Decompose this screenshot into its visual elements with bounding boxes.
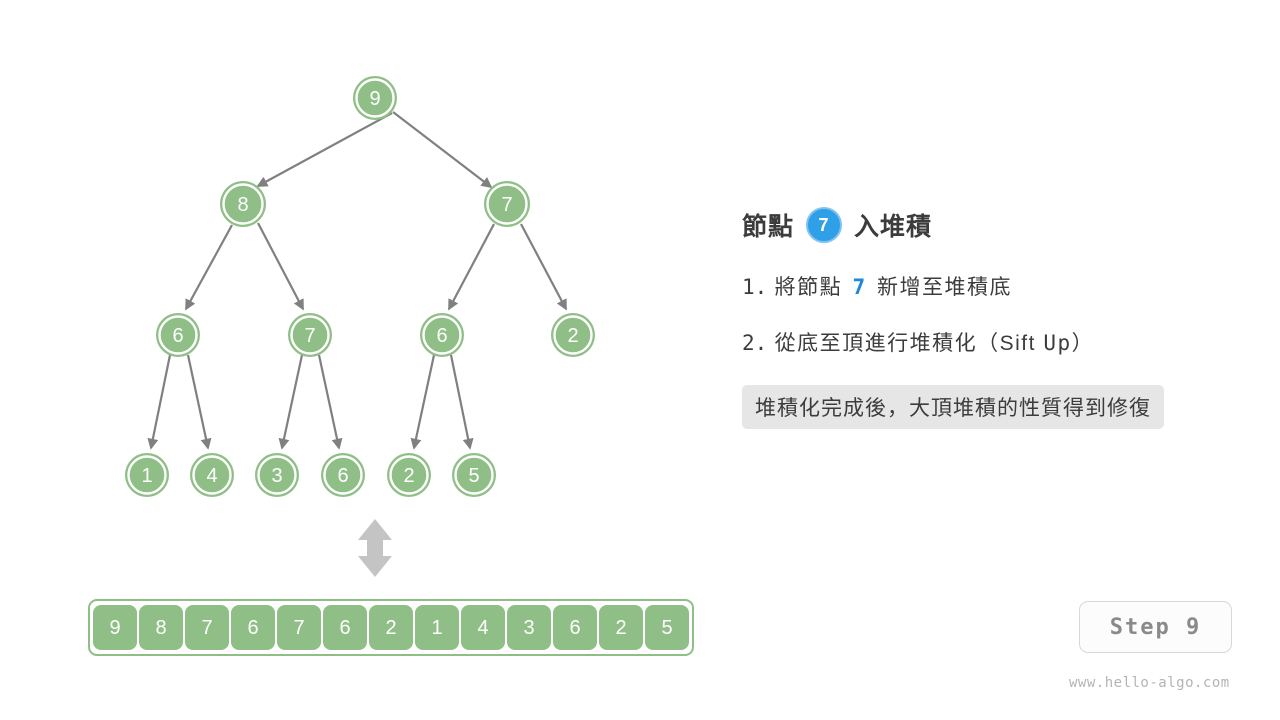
tree-node-label: 6	[172, 325, 183, 347]
array-cell[interactable]: 6	[323, 605, 367, 650]
step-badge: Step 9	[1079, 601, 1232, 653]
tree-edge	[188, 355, 208, 448]
tree-node: 9	[353, 76, 397, 120]
info-title-prefix: 節點	[742, 207, 794, 243]
tree-edge	[521, 224, 566, 309]
array-cell[interactable]: 8	[139, 605, 183, 650]
tree-node: 1	[125, 453, 169, 497]
info-step-2-text-before: 從底至頂進行堆積化（Sift	[775, 332, 1036, 355]
tree-node: 4	[190, 453, 234, 497]
tree-node-label: 6	[337, 465, 348, 487]
array-cell[interactable]: 4	[461, 605, 505, 650]
info-step-1-text-after: 新增至堆積底	[877, 276, 1012, 299]
tree-node: 6	[420, 313, 464, 357]
tree-node-label: 9	[369, 88, 380, 110]
info-title-suffix: 入堆積	[854, 207, 932, 243]
array-cell[interactable]: 2	[369, 605, 413, 650]
array-cell[interactable]: 7	[277, 605, 321, 650]
info-step-1-number: 1.	[742, 275, 767, 299]
tree-node: 2	[551, 313, 595, 357]
info-note: 堆積化完成後，大頂堆積的性質得到修復	[742, 385, 1164, 429]
tree-edge	[451, 355, 470, 448]
array-cell[interactable]: 5	[645, 605, 689, 650]
tree-node-label: 5	[468, 465, 479, 487]
array-cell[interactable]: 9	[93, 605, 137, 650]
tree-node: 7	[484, 181, 530, 227]
heap-array: 9 8 7 6 7 6 2 1 4 3 6 2 5	[88, 599, 694, 656]
tree-edge	[258, 113, 392, 186]
info-step-2: 2. 從底至頂進行堆積化（Sift Up）	[742, 327, 1242, 357]
footer-url: www.hello-algo.com	[1069, 675, 1230, 691]
tree-edges	[151, 112, 566, 448]
array-cell[interactable]: 2	[599, 605, 643, 650]
tree-edge	[449, 224, 494, 309]
info-step-2-number: 2.	[742, 331, 767, 355]
vertical-double-arrow-icon	[358, 519, 392, 577]
array-cell[interactable]: 7	[185, 605, 229, 650]
tree-edge	[258, 223, 303, 309]
tree-node-label: 1	[141, 465, 152, 487]
tree-edge	[414, 355, 434, 448]
tree-node: 7	[288, 313, 332, 357]
tree-edge	[151, 355, 170, 448]
info-title: 節點 7 入堆積	[742, 205, 1242, 245]
tree-node-label: 7	[501, 194, 512, 216]
tree-node: 2	[387, 453, 431, 497]
tree-edge	[186, 225, 232, 309]
tree-node-label: 3	[271, 465, 282, 487]
tree-edge	[393, 112, 491, 187]
title-node-badge: 7	[806, 207, 842, 243]
tree-node-label: 4	[206, 465, 217, 487]
tree-node: 5	[452, 453, 496, 497]
info-step-1-highlight: 7	[849, 275, 869, 299]
tree-node: 6	[156, 313, 200, 357]
array-cell[interactable]: 6	[553, 605, 597, 650]
diagram-panel: 9 8 7 6 7	[0, 0, 730, 720]
array-cell[interactable]: 3	[507, 605, 551, 650]
array-cell[interactable]: 6	[231, 605, 275, 650]
tree-edge	[319, 355, 339, 448]
tree-node-label: 2	[403, 465, 414, 487]
tree-node: 8	[220, 181, 266, 227]
binary-tree-diagram: 9 8 7 6 7	[0, 0, 730, 600]
tree-node-label: 6	[436, 325, 447, 347]
array-cell[interactable]: 1	[415, 605, 459, 650]
info-step-1-text-before: 將節點	[775, 276, 843, 299]
tree-node: 3	[255, 453, 299, 497]
tree-edge	[282, 355, 302, 448]
info-step-2-text-after: Up）	[1043, 331, 1094, 355]
tree-node-label: 8	[237, 194, 248, 216]
tree-node-label: 2	[567, 325, 578, 347]
tree-node-label: 7	[304, 325, 315, 347]
info-step-1: 1. 將節點 7 新增至堆積底	[742, 271, 1242, 301]
tree-nodes: 9 8 7 6 7	[125, 76, 595, 497]
tree-node: 6	[321, 453, 365, 497]
info-panel: 節點 7 入堆積 1. 將節點 7 新增至堆積底 2. 從底至頂進行堆積化（Si…	[742, 205, 1242, 429]
